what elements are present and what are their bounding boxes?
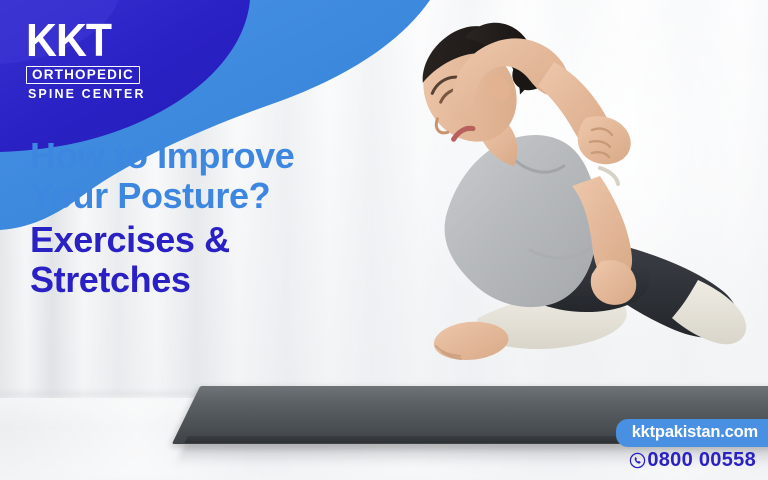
promo-banner: KKT ORTHOPEDIC SPINE CENTER How to Impro… bbox=[0, 0, 768, 480]
headline-block: How to Improve Your Posture? Exercises &… bbox=[30, 136, 430, 301]
phone-circle-icon bbox=[629, 452, 646, 469]
logo-primary-text: KKT bbox=[26, 19, 175, 61]
headline-line-2: Your Posture? bbox=[30, 176, 430, 216]
phone-number: 0800 00558 bbox=[647, 450, 756, 470]
headline-line-1: How to Improve bbox=[30, 136, 430, 176]
headline-line-3: Exercises & bbox=[30, 220, 430, 260]
phone-row[interactable]: 0800 00558 bbox=[576, 450, 768, 470]
logo-tertiary-text: SPINE CENTER bbox=[26, 88, 186, 101]
contact-block: kktpakistan.com 0800 00558 bbox=[576, 419, 768, 470]
kkt-logo[interactable]: KKT ORTHOPEDIC SPINE CENTER bbox=[26, 19, 186, 101]
website-badge[interactable]: kktpakistan.com bbox=[616, 419, 768, 447]
logo-secondary-text: ORTHOPEDIC bbox=[26, 66, 140, 84]
headline-line-4: Stretches bbox=[30, 260, 430, 300]
